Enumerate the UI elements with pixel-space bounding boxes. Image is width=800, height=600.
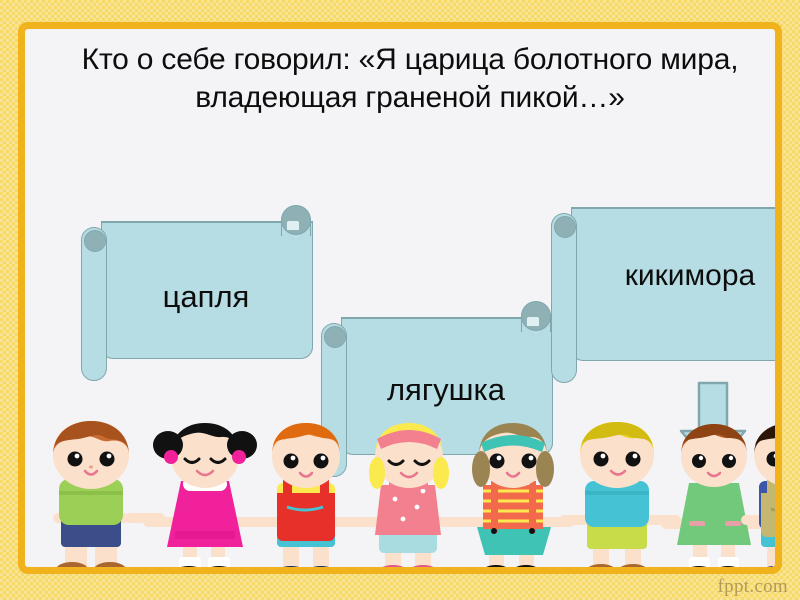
scroll-left-roll-icon (551, 213, 577, 383)
child-boy-blue-shirt (559, 422, 681, 567)
child-girl-pink-dress (143, 423, 267, 567)
answer-scroll-heron[interactable]: цапля (73, 221, 313, 381)
child-girl-yellow-hair (351, 423, 471, 567)
child-boy-khaki-overalls (741, 423, 775, 567)
scroll-right-curl-icon (281, 205, 311, 235)
watermark: fppt.com (718, 576, 788, 598)
children-illustration (25, 421, 775, 567)
answer-label-frog: лягушка (353, 372, 539, 408)
slide-background: Кто о себе говорил: «Я царица болотного … (0, 0, 800, 600)
answer-label-kikimora: кикимора (583, 259, 775, 293)
canvas-clip: Кто о себе говорил: «Я царица болотного … (25, 29, 775, 567)
slide-canvas: Кто о себе говорил: «Я царица болотного … (18, 22, 782, 574)
scroll-sheet-top-edge (571, 207, 775, 209)
answer-scroll-kikimora[interactable]: кикимора (543, 207, 775, 383)
scroll-left-roll-icon (81, 227, 107, 381)
page-title: Кто о себе говорил: «Я царица болотного … (65, 41, 755, 117)
child-girl-green-dress (661, 424, 767, 567)
child-boy-green-shirt (53, 421, 165, 567)
child-girl-red-overalls (247, 423, 369, 567)
answer-label-heron: цапля (113, 279, 299, 315)
child-girl-striped-top (453, 423, 575, 567)
